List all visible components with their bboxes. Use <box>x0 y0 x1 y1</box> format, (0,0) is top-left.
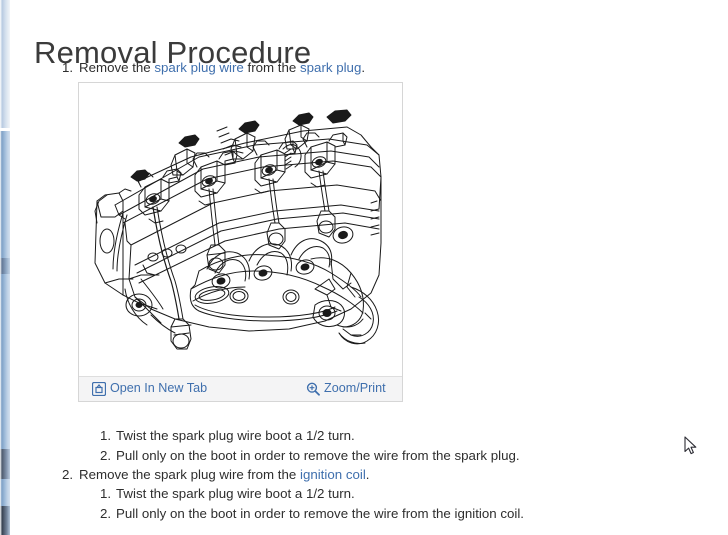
engine-line-drawing[interactable] <box>79 83 402 376</box>
step-1-text-after: . <box>361 60 365 75</box>
edge-strip-upper <box>0 0 10 128</box>
step-2-text-after: . <box>366 467 370 482</box>
figure-caption-bar: Open In New Tab Zoom/Print <box>79 376 402 401</box>
step-2-substep-1-text: Twist the spark plug wire boot a 1/2 tur… <box>116 486 355 501</box>
step-1-substep-1-text: Twist the spark plug wire boot a 1/2 tur… <box>116 428 355 443</box>
step-2-substep-2: 2.Pull only on the boot in order to remo… <box>100 504 702 524</box>
link-spark-plug-wire[interactable]: spark plug wire <box>154 60 243 75</box>
step-1-text-before: Remove the <box>79 60 154 75</box>
figure-container[interactable]: Open In New Tab Zoom/Print <box>78 82 403 402</box>
step-1-substep-2: 2.Pull only on the boot in order to remo… <box>100 446 702 466</box>
step-1-substep-2-text: Pull only on the boot in order to remove… <box>116 448 520 463</box>
step-1-substeps: 1.Twist the spark plug wire boot a 1/2 t… <box>100 426 702 465</box>
step-1-substep-1-number: 1. <box>100 426 116 446</box>
step-2-substep-2-number: 2. <box>100 504 116 524</box>
step-2-substep-1-number: 1. <box>100 484 116 504</box>
step-2-text-before: Remove the spark plug wire from the <box>79 467 300 482</box>
step-2-substep-1: 1.Twist the spark plug wire boot a 1/2 t… <box>100 484 702 504</box>
edge-strip-shade-3 <box>0 506 10 535</box>
link-ignition-coil[interactable]: ignition coil <box>300 467 366 482</box>
step-1-number: 1. <box>62 58 79 77</box>
step-2-substeps: 1.Twist the spark plug wire boot a 1/2 t… <box>100 484 702 523</box>
new-tab-icon[interactable] <box>92 382 106 396</box>
left-pane-edge-strip <box>0 0 10 535</box>
step-1-substep-2-number: 2. <box>100 446 116 466</box>
open-in-new-tab-link[interactable]: Open In New Tab <box>110 381 207 395</box>
engine-illustration-svg <box>79 83 402 376</box>
document-content: Removal Procedure 1.Remove the spark plu… <box>12 0 728 535</box>
edge-strip-shade-2 <box>0 449 10 479</box>
edge-strip-shade-1 <box>0 258 10 274</box>
magnifier-plus-icon[interactable] <box>306 382 320 396</box>
step-2-substep-2-text: Pull only on the boot in order to remove… <box>116 506 524 521</box>
step-1-substep-1: 1.Twist the spark plug wire boot a 1/2 t… <box>100 426 702 446</box>
step-2-number: 2. <box>62 465 79 484</box>
zoom-print-link[interactable]: Zoom/Print <box>324 381 386 395</box>
step-1-text-middle: from the <box>244 60 300 75</box>
link-spark-plug[interactable]: spark plug <box>300 60 361 75</box>
procedure-step-1: 1.Remove the spark plug wire from the sp… <box>62 58 702 77</box>
procedure-step-2: 2.Remove the spark plug wire from the ig… <box>62 465 702 484</box>
